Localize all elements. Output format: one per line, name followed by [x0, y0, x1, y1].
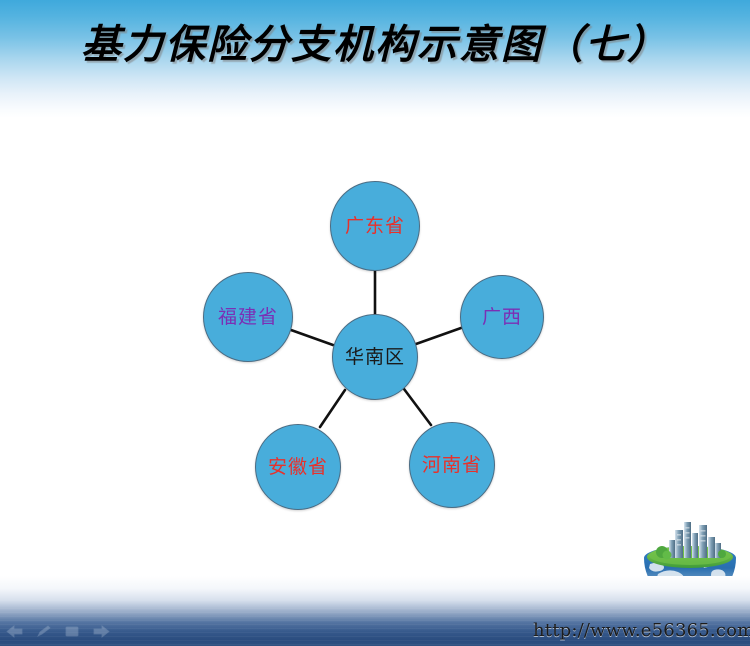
slide-canvas: 基力保险分支机构示意图（七） 华南区 广东省 广西 河南省 [0, 0, 750, 646]
node-label: 广东省 [345, 217, 405, 236]
node-branch-henan[interactable]: 河南省 [409, 422, 495, 508]
pen-icon[interactable] [36, 625, 52, 638]
node-branch-fujian[interactable]: 福建省 [203, 272, 293, 362]
edge-center-guangxi [416, 328, 461, 344]
node-branch-guangxi[interactable]: 广西 [460, 275, 544, 359]
node-center-huanan[interactable]: 华南区 [332, 314, 418, 400]
slideshow-nav-icons[interactable] [6, 625, 110, 638]
node-label: 华南区 [345, 348, 405, 367]
node-label: 福建省 [218, 308, 278, 327]
node-label: 广西 [482, 308, 522, 327]
edge-center-henan [404, 389, 431, 425]
node-label: 河南省 [422, 456, 482, 475]
edge-center-fujian [291, 330, 333, 345]
watermark-url: http://www.e56365.com [533, 620, 750, 641]
node-branch-anhui[interactable]: 安徽省 [255, 424, 341, 510]
node-branch-guangdong[interactable]: 广东省 [330, 181, 420, 271]
node-label: 安徽省 [268, 458, 328, 477]
city-skyline [669, 522, 721, 558]
edge-center-anhui [320, 390, 345, 427]
previous-arrow-icon[interactable] [6, 625, 24, 638]
next-arrow-icon[interactable] [92, 625, 110, 638]
slide-menu-icon[interactable] [64, 625, 80, 638]
